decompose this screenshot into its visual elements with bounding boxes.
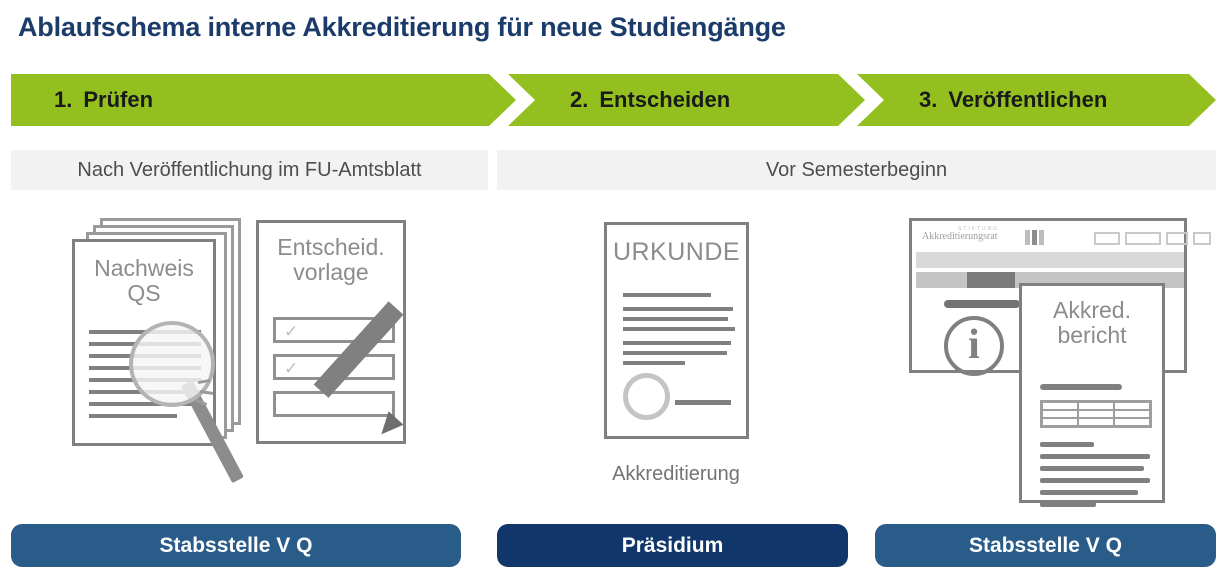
vorlage-title: Entscheid. vorlage (259, 235, 403, 285)
doc-text-line (1040, 442, 1094, 447)
responsible-pill-2-label: Präsidium (622, 534, 724, 558)
responsible-pill-1-label: Stabsstelle V Q (160, 534, 313, 558)
site-headline-bar (944, 300, 1020, 308)
akkreditierungsbericht-document: Akkred. bericht (1019, 283, 1165, 503)
doc-text-line (1040, 466, 1144, 471)
table-column (1043, 403, 1079, 425)
bericht-heading-rule (1040, 384, 1122, 390)
bericht-title: Akkred. bericht (1022, 298, 1162, 348)
logo-bar-icon (1025, 230, 1030, 245)
urkunde-title: URKUNDE (607, 239, 746, 266)
responsible-pill-2[interactable]: Präsidium (497, 524, 848, 567)
site-banner-strip (916, 252, 1184, 268)
vorlage-title-line1: Entscheid. (259, 235, 403, 260)
doc-text-line (623, 361, 685, 365)
doc-text-line (623, 293, 711, 297)
nachweis-title-line1: Nachweis (75, 256, 213, 281)
seal-icon (623, 373, 670, 420)
checkbox-row-3[interactable] (273, 391, 395, 417)
urkunde-illustration: URKUNDE Akkreditierung (604, 222, 804, 492)
nachweis-title: Nachweis QS (75, 256, 213, 306)
doc-text-line (1040, 454, 1150, 459)
table-row-line (1115, 409, 1149, 411)
doc-text-line (1040, 502, 1096, 507)
check-icon: ✓ (284, 359, 298, 379)
nav-item-box[interactable] (1125, 232, 1161, 245)
doc-text-line (89, 414, 177, 418)
logo-bar-icon (1032, 230, 1037, 245)
logo-bar-icon (1039, 230, 1044, 245)
bericht-table (1040, 400, 1152, 428)
bericht-title-line2: bericht (1022, 323, 1162, 348)
illustration-stage: Nachweis QS Entscheid. vorlage ✓ (0, 0, 1227, 576)
logo-name-text: Akkreditierungsrat (922, 231, 998, 242)
responsible-pill-3-label: Stabsstelle V Q (969, 534, 1122, 558)
urkunde-caption: Akkreditierung (560, 463, 792, 486)
signature-line (675, 400, 731, 405)
nav-item-box[interactable] (1166, 232, 1188, 245)
nav-item-box[interactable] (1094, 232, 1120, 245)
responsible-pill-1[interactable]: Stabsstelle V Q (11, 524, 461, 567)
vorlage-title-line2: vorlage (259, 260, 403, 285)
info-icon-letter: i (944, 319, 1004, 371)
table-row-line (1079, 417, 1113, 419)
nachweis-qs-illustration: Nachweis QS (72, 218, 252, 446)
doc-text-line (623, 327, 735, 331)
doc-text-line (623, 351, 727, 355)
doc-text-line (623, 341, 731, 345)
doc-text-line (623, 307, 733, 311)
bericht-title-line1: Akkred. (1022, 298, 1162, 323)
akkreditierungsrat-website-illustration: STIFTUNG Akkreditierungsrat i Akkred. be… (909, 218, 1189, 508)
site-menu-active-item[interactable] (967, 272, 1015, 288)
table-row-line (1115, 417, 1149, 419)
nachweis-title-line2: QS (75, 281, 213, 306)
urkunde-document: URKUNDE (604, 222, 749, 439)
doc-text-line (1040, 478, 1150, 483)
nav-item-box[interactable] (1193, 232, 1211, 245)
table-column (1115, 403, 1149, 425)
magnifier-glass-icon (129, 321, 215, 407)
table-column (1079, 403, 1115, 425)
table-row-line (1079, 409, 1113, 411)
check-icon: ✓ (284, 322, 298, 342)
doc-text-line (1040, 490, 1138, 495)
table-row-line (1043, 409, 1077, 411)
entscheidungsvorlage-illustration: Entscheid. vorlage ✓ ✓ (256, 220, 416, 444)
doc-text-line (623, 317, 728, 321)
table-row-line (1043, 417, 1077, 419)
responsible-pill-3[interactable]: Stabsstelle V Q (875, 524, 1216, 567)
